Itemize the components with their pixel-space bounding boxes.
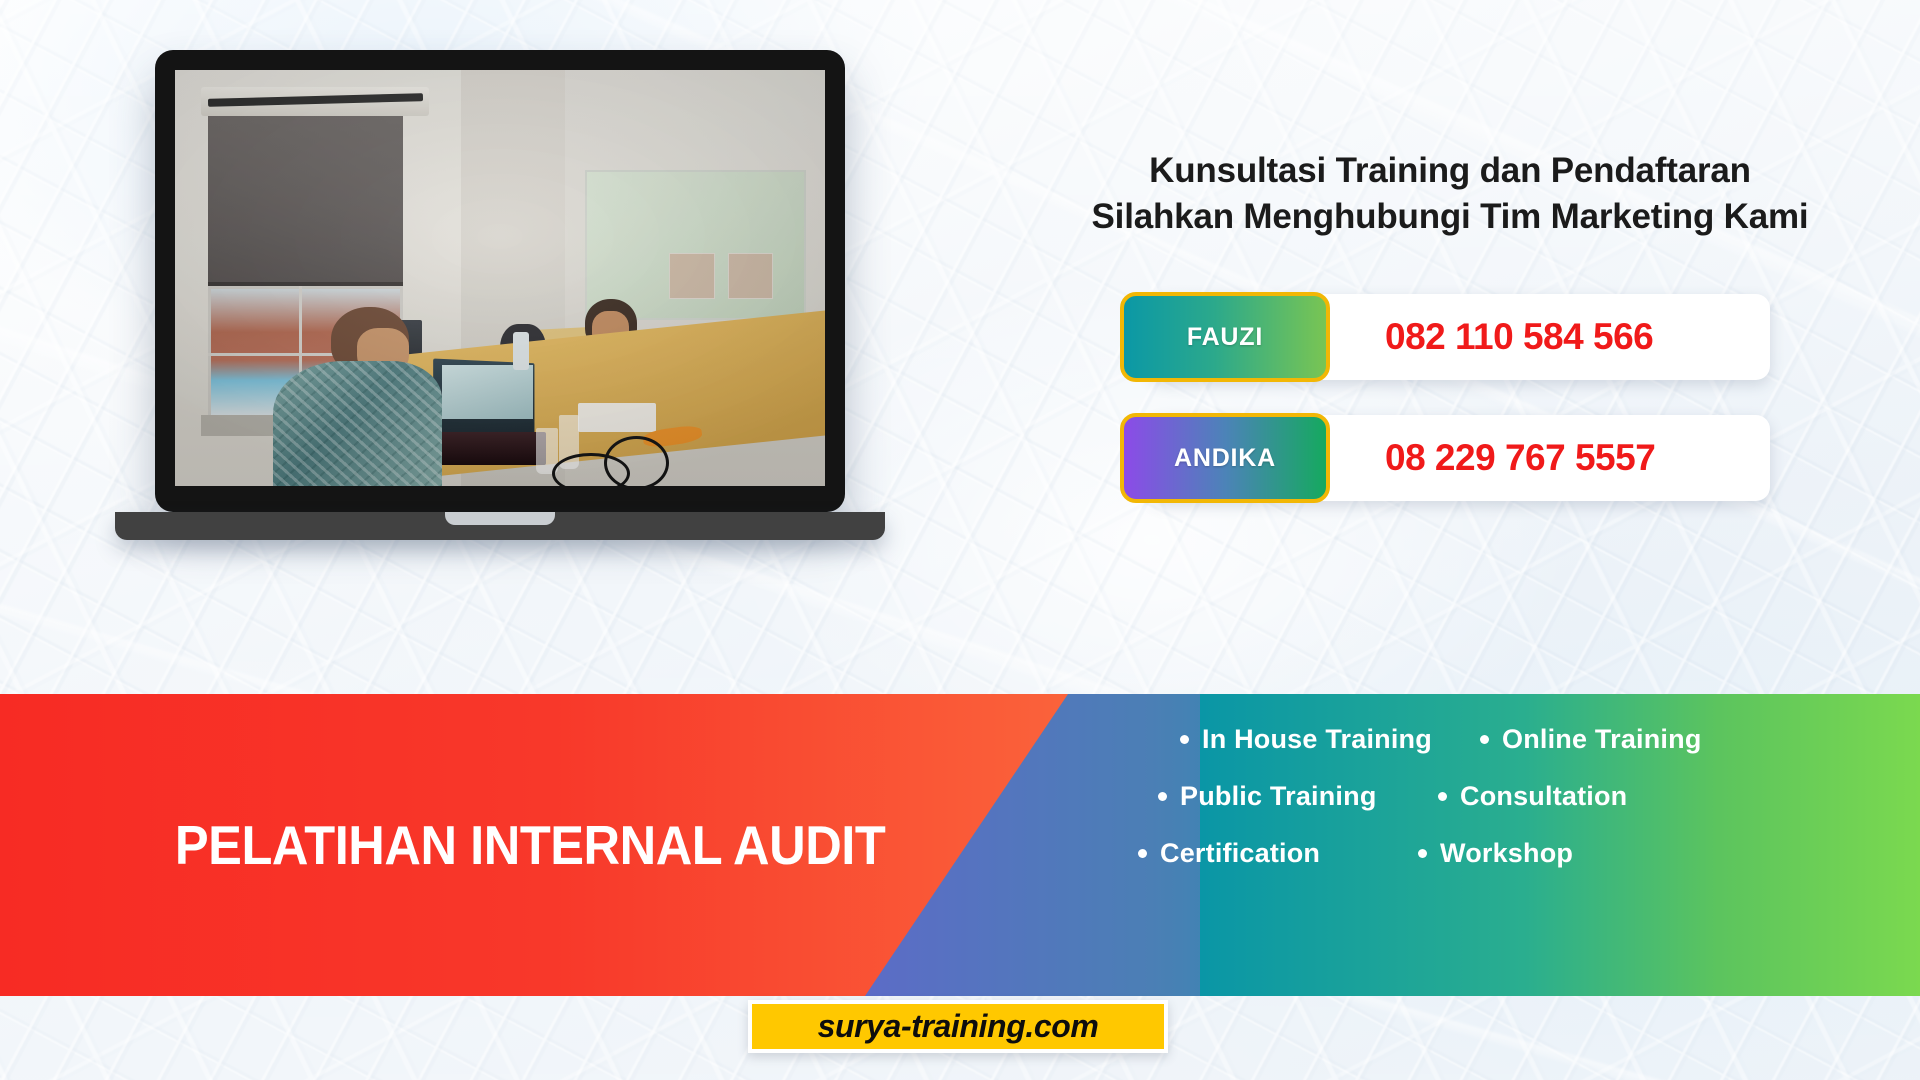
- headline-line-1: Kunsultasi Training dan Pendaftaran: [1010, 148, 1890, 194]
- laptop-base: [115, 512, 885, 540]
- laptop-notch: [445, 512, 555, 525]
- bullet-icon: [1480, 735, 1489, 744]
- service-label: Workshop: [1440, 838, 1573, 869]
- contact-phone-number[interactable]: 08 229 767 5557: [1385, 415, 1655, 501]
- laptop-mockup: [115, 50, 885, 540]
- contact-name: ANDIKA: [1174, 444, 1276, 473]
- headline-line-2: Silahkan Menghubungi Tim Marketing Kami: [1010, 194, 1890, 240]
- bullet-icon: [1158, 792, 1167, 801]
- service-label: Public Training: [1180, 781, 1377, 812]
- laptop-screen: [175, 70, 825, 486]
- bullet-icon: [1180, 735, 1189, 744]
- website-badge[interactable]: surya-training.com: [748, 1000, 1168, 1053]
- laptop-lid: [155, 50, 845, 512]
- headline: Kunsultasi Training dan Pendaftaran Sila…: [1010, 148, 1890, 239]
- services-row: Public Training Consultation: [1158, 781, 1880, 812]
- services-row: In House Training Online Training: [1180, 724, 1880, 755]
- service-item[interactable]: Consultation: [1438, 781, 1627, 812]
- website-url: surya-training.com: [818, 1008, 1099, 1045]
- bullet-icon: [1418, 849, 1427, 858]
- contact-name-badge: ANDIKA: [1120, 413, 1330, 503]
- service-label: Certification: [1160, 838, 1320, 869]
- bullet-icon: [1138, 849, 1147, 858]
- contact-list: FAUZI 082 110 584 566 ANDIKA 08 229 767 …: [1120, 294, 1770, 536]
- contact-name: FAUZI: [1187, 323, 1263, 352]
- contact-card[interactable]: ANDIKA 08 229 767 5557: [1120, 415, 1770, 501]
- contact-phone-number[interactable]: 082 110 584 566: [1385, 294, 1653, 380]
- service-item[interactable]: Workshop: [1418, 838, 1573, 869]
- service-item[interactable]: Online Training: [1480, 724, 1702, 755]
- services-row: Certification Workshop: [1138, 838, 1880, 869]
- service-item[interactable]: Certification: [1138, 838, 1418, 869]
- service-label: Online Training: [1502, 724, 1702, 755]
- course-title-container: PELATIHAN INTERNAL AUDIT: [0, 694, 1060, 996]
- training-room-photo: [175, 70, 825, 486]
- contact-name-badge: FAUZI: [1120, 292, 1330, 382]
- contact-card[interactable]: FAUZI 082 110 584 566: [1120, 294, 1770, 380]
- photo-vignette: [175, 70, 825, 486]
- service-item[interactable]: In House Training: [1180, 724, 1480, 755]
- course-title: PELATIHAN INTERNAL AUDIT: [175, 813, 885, 877]
- services-list: In House Training Online Training Public…: [1180, 724, 1880, 895]
- service-label: Consultation: [1460, 781, 1627, 812]
- bullet-icon: [1438, 792, 1447, 801]
- service-label: In House Training: [1202, 724, 1432, 755]
- service-item[interactable]: Public Training: [1158, 781, 1438, 812]
